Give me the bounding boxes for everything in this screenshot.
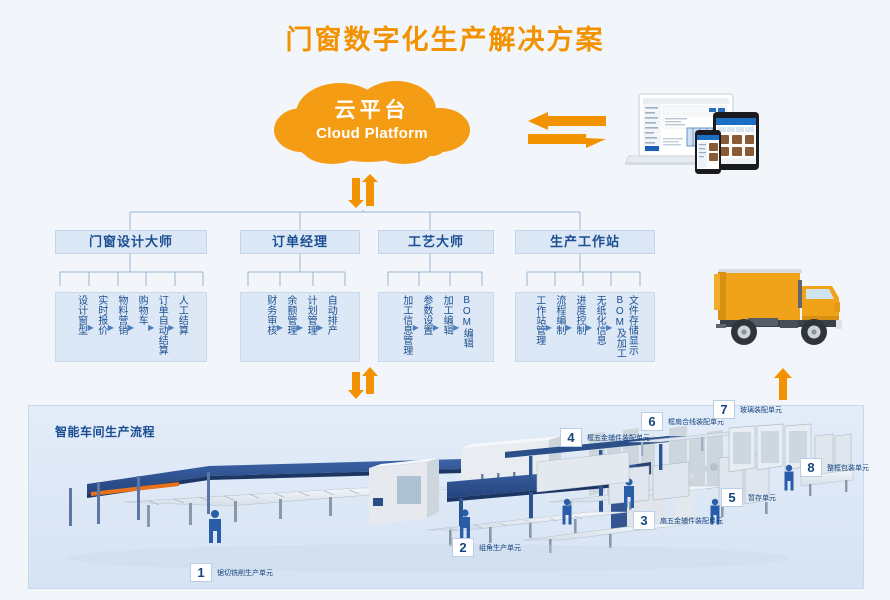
- cloud-modules-exchange-arrows: [345, 172, 381, 208]
- chevron-right-icon: ▶: [108, 323, 114, 332]
- modules-workshop-exchange-arrows: [345, 366, 381, 400]
- unit-number-1: 1: [190, 563, 212, 582]
- unit-number-3: 3: [633, 511, 655, 530]
- unit-label-1: 锯切铣削生产单元: [217, 568, 273, 578]
- chevron-right-icon: ▶: [433, 323, 439, 332]
- module-item-3-0[interactable]: 工作站管理: [533, 295, 545, 359]
- workshop-unit-2[interactable]: 2 组角生产单元: [452, 538, 521, 557]
- module-item-1-3[interactable]: 自动排产: [324, 295, 336, 359]
- device-mockup-group: [625, 86, 775, 178]
- module-card-3[interactable]: 生产工作站 工作站管理 ▶ 流程编制 ▶ 进度控制 ▶ 无纸化信息 ▶ BOM及…: [515, 230, 655, 362]
- unit-number-2: 2: [452, 538, 474, 557]
- module-title-2: 工艺大师: [378, 230, 494, 254]
- arrow-up-icon: [362, 174, 378, 206]
- module-item-3-1[interactable]: 流程编制: [553, 295, 565, 359]
- unit-number-8: 8: [800, 458, 822, 477]
- unit-label-2: 组角生产单元: [479, 543, 521, 553]
- module-items-3: 工作站管理 ▶ 流程编制 ▶ 进度控制 ▶ 无纸化信息 ▶ BOM及加工 文件存…: [515, 292, 655, 362]
- module-card-2[interactable]: 工艺大师 加工信息管理 ▶ 参数设置 ▶ 加工编辑 ▶ BOM编辑: [378, 230, 494, 362]
- chevron-right-icon: ▶: [88, 323, 94, 332]
- unit-label-8: 整框包装单元: [827, 463, 869, 473]
- chevron-right-icon: ▶: [606, 323, 612, 332]
- module-item-0-0[interactable]: 设计窗型: [75, 295, 87, 359]
- module-item-1-1[interactable]: 余额管理: [284, 295, 296, 359]
- page-title: 门窗数字化生产解决方案: [0, 18, 890, 57]
- worker: [460, 509, 470, 539]
- worker: [209, 510, 221, 543]
- cloud-device-exchange-arrows: [528, 112, 610, 156]
- unit-label-4: 框五金辅件装配单元: [587, 433, 650, 443]
- module-item-1-2[interactable]: 计划管理: [304, 295, 316, 359]
- unit-label-3: 扇五金辅件装配单元: [660, 516, 723, 526]
- workshop-truck-arrow: [772, 368, 794, 402]
- module-title-3: 生产工作站: [515, 230, 655, 254]
- module-items-1: 财务审核 ▶ 余额管理 ▶ 计划管理 ▶ 自动排产: [240, 292, 360, 362]
- module-item-2-0[interactable]: 加工信息管理: [400, 295, 412, 359]
- chevron-right-icon: ▶: [586, 323, 592, 332]
- module-item-0-1[interactable]: 实时报价: [95, 295, 107, 359]
- chevron-right-icon: ▶: [148, 323, 154, 332]
- unit-number-7: 7: [713, 400, 735, 419]
- module-item-0-2[interactable]: 物料营销: [115, 295, 127, 359]
- chevron-right-icon: ▶: [566, 323, 572, 332]
- delivery-truck: [706, 258, 866, 363]
- module-item-2-2[interactable]: 加工编辑: [440, 295, 452, 359]
- workshop-unit-7[interactable]: 7 玻璃装配单元: [713, 400, 782, 419]
- arrow-left-icon: [528, 112, 606, 130]
- workshop-unit-3[interactable]: 3 扇五金辅件装配单元: [633, 511, 723, 530]
- arrow-right-icon: [528, 134, 606, 148]
- unit-number-5: 5: [721, 488, 743, 507]
- unit-number-6: 6: [641, 412, 663, 431]
- module-card-1[interactable]: 订单经理 财务审核 ▶ 余额管理 ▶ 计划管理 ▶ 自动排产: [240, 230, 360, 362]
- unit-label-5: 暂存单元: [748, 493, 776, 503]
- chevron-right-icon: ▶: [168, 323, 174, 332]
- workshop-unit-8[interactable]: 8 整框包装单元: [800, 458, 869, 477]
- arrow-down-icon: [348, 178, 364, 208]
- phone-icon: [695, 130, 721, 174]
- workshop-unit-4[interactable]: 4 框五金辅件装配单元: [560, 428, 650, 447]
- truck-icon: [706, 258, 866, 363]
- module-items-0: 设计窗型 ▶ 实时报价 ▶ 物料营销 ▶ 购物车 ▶ 订单自动结算 ▶ 人工结算: [55, 292, 207, 362]
- unit-label-7: 玻璃装配单元: [740, 405, 782, 415]
- module-item-1-0[interactable]: 财务审核: [264, 295, 276, 359]
- module-items-2: 加工信息管理 ▶ 参数设置 ▶ 加工编辑 ▶ BOM编辑: [378, 292, 494, 362]
- chevron-right-icon: ▶: [128, 323, 134, 332]
- workshop-unit-5[interactable]: 5 暂存单元: [721, 488, 776, 507]
- module-title-0: 门窗设计大师: [55, 230, 207, 254]
- module-item-3-5[interactable]: 文件存储显示: [625, 295, 637, 359]
- workshop-unit-1[interactable]: 1 锯切铣削生产单元: [190, 563, 273, 582]
- arrow-up-icon: [774, 368, 792, 400]
- workshop-unit-6[interactable]: 6 框扇合线装配单元: [641, 412, 724, 431]
- unit-number-4: 4: [560, 428, 582, 447]
- chevron-right-icon: ▶: [413, 323, 419, 332]
- arrow-up-icon: [362, 367, 378, 394]
- module-item-0-3[interactable]: 购物车: [135, 295, 147, 359]
- cloud-platform: 云平台 Cloud Platform: [272, 78, 472, 173]
- workshop-title: 智能车间生产流程: [55, 423, 155, 440]
- chevron-right-icon: ▶: [317, 323, 323, 332]
- chevron-right-icon: ▶: [453, 323, 459, 332]
- module-item-3-3[interactable]: 无纸化信息: [593, 295, 605, 359]
- devices-illustration: [625, 86, 775, 178]
- arrow-down-icon: [348, 372, 364, 399]
- cnc-cabin: [369, 458, 439, 526]
- module-title-1: 订单经理: [240, 230, 360, 254]
- chevron-right-icon: ▶: [277, 323, 283, 332]
- cell-7-graphics: [729, 424, 811, 472]
- module-item-3-2[interactable]: 进度控制: [573, 295, 585, 359]
- module-item-0-4[interactable]: 订单自动结算: [155, 295, 167, 359]
- module-item-3-4[interactable]: BOM及加工: [613, 295, 625, 359]
- module-card-0[interactable]: 门窗设计大师 设计窗型 ▶ 实时报价 ▶ 物料营销 ▶ 购物车 ▶ 订单自动结算…: [55, 230, 207, 362]
- module-item-2-1[interactable]: 参数设置: [420, 295, 432, 359]
- solution-diagram: 门窗数字化生产解决方案 云平台 Cloud Platform: [0, 0, 890, 600]
- chevron-right-icon: ▶: [297, 323, 303, 332]
- cloud-icon: [272, 78, 472, 173]
- module-item-0-5[interactable]: 人工结算: [175, 295, 187, 359]
- module-item-2-3[interactable]: BOM编辑: [460, 295, 472, 359]
- chevron-right-icon: ▶: [546, 323, 552, 332]
